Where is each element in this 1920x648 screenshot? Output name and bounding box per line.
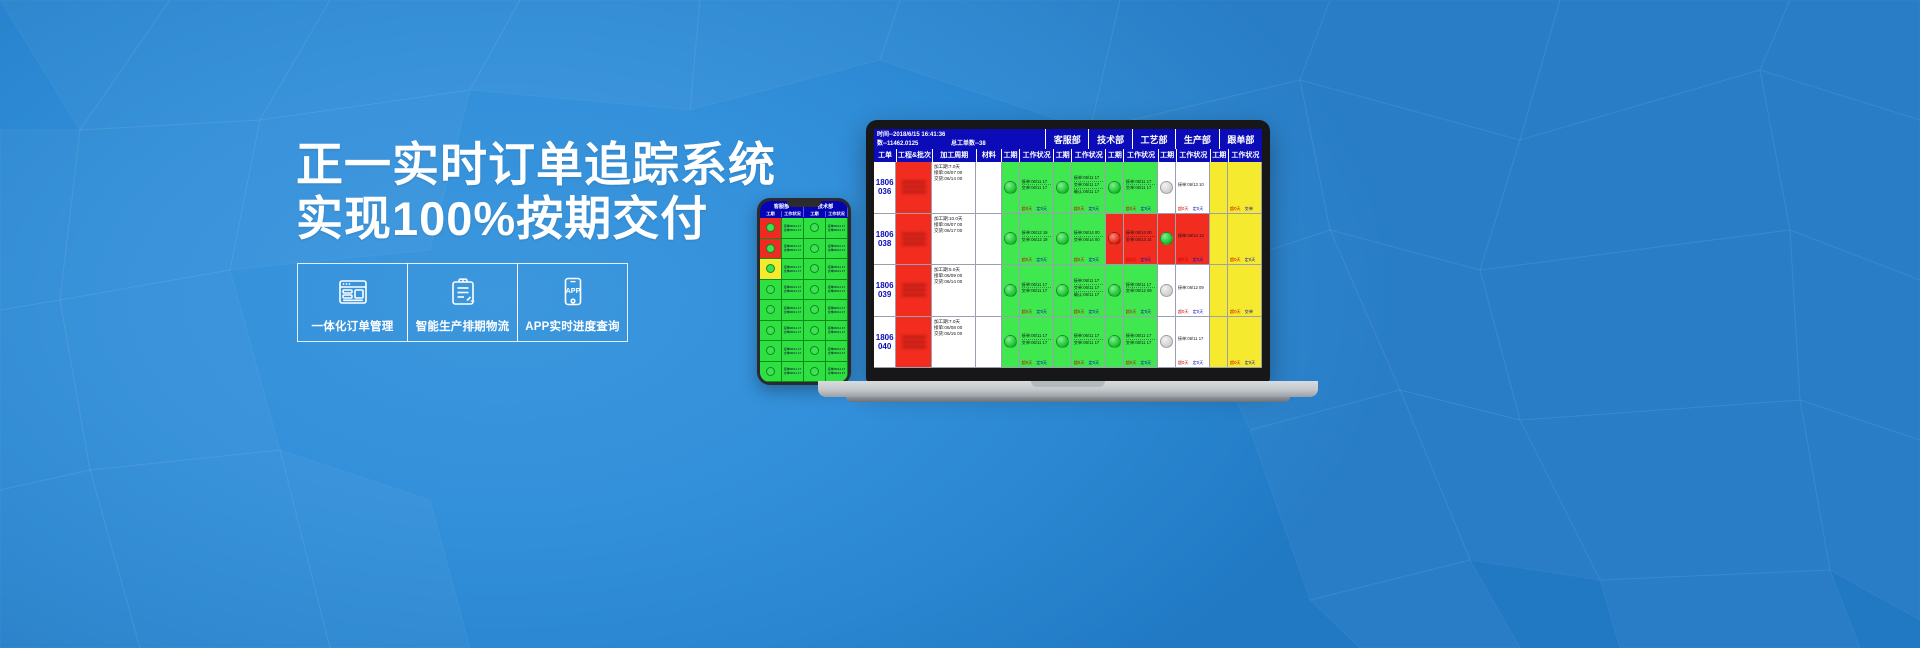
phone-status-text: 接单06/11 17交单06/11 17 <box>784 306 801 314</box>
dept-header: 生产部 <box>1175 129 1218 149</box>
status-dot-green <box>766 305 775 314</box>
status-dot-green <box>766 367 775 376</box>
app-icon-text: APP <box>565 286 580 295</box>
status-dot-green <box>766 264 775 273</box>
promo-banner: 正一实时订单追踪系统 实现100%按期交付 一体化订单管理 <box>0 0 1920 648</box>
duration-indicator-cell <box>1002 214 1020 265</box>
status-dot-green <box>766 223 775 232</box>
feature-label: 智能生产排期物流 <box>416 318 510 334</box>
status-dot-red <box>1108 232 1121 245</box>
column-header: 工期 <box>1210 149 1228 162</box>
phone-col-label: 工期 <box>760 211 782 217</box>
dept-header: 技术部 <box>1088 129 1131 149</box>
phone-cell <box>760 321 781 342</box>
duration-indicator-cell <box>1054 214 1072 265</box>
order-number-cell: 1806040 <box>874 317 896 368</box>
feature-item-production-scheduling[interactable]: 智能生产排期物流 <box>407 263 518 342</box>
duration-indicator-cell <box>1210 317 1228 368</box>
laptop-screen: 时间--2018/6/15 16:41:36 数--11462.0125 总工单… <box>874 129 1262 368</box>
work-status-cell: 接单:06/11 17交单:06/11 17超0天定0天 <box>1124 162 1158 213</box>
phone-cell <box>760 362 781 383</box>
work-status-cell: 接单:06/11 17交单:06/11 17超0天定0天 <box>1072 317 1106 368</box>
status-dot-grey <box>1160 335 1173 348</box>
phone-cell: 接单06/11 17交单06/11 17 <box>782 321 803 342</box>
laptop-mockup: 时间--2018/6/15 16:41:36 数--11462.0125 总工单… <box>818 120 1318 420</box>
column-header: 加工周期 <box>932 149 976 162</box>
status-dot-green <box>1056 335 1069 348</box>
phone-status-text: 接单06/11 17交单06/11 17 <box>784 244 801 252</box>
material-cell <box>976 317 1001 368</box>
column-header: 工程&批次 <box>896 149 932 162</box>
phone-cell: 接单06/11 17交单06/11 17 <box>782 259 803 280</box>
phone-cell <box>760 259 781 280</box>
status-dot-green <box>1056 232 1069 245</box>
phone-cell: 接单06/11 17交单06/11 17 <box>782 341 803 362</box>
work-status-cell: 接单:06/11 17交单:06/11 17超0天定0天 <box>1124 317 1158 368</box>
column-header: 工作状况 <box>1123 149 1157 162</box>
laptop-foot <box>846 397 1290 402</box>
status-dot-green <box>1160 232 1173 245</box>
phone-cell <box>760 218 781 239</box>
work-status-cell: 接单:06/13 10超0天定0天 <box>1176 162 1210 213</box>
feature-label: 一体化订单管理 <box>312 318 394 334</box>
dashboard-window-icon <box>338 277 368 307</box>
material-cell <box>976 214 1001 265</box>
dashboard-department-row: 客服部 技术部 工艺部 生产部 跟单部 <box>1045 129 1262 149</box>
duration-indicator-cell <box>1106 162 1124 213</box>
dept-header: 客服部 <box>1045 129 1088 149</box>
duration-indicator-cell <box>1002 317 1020 368</box>
duration-indicator-cell <box>1210 265 1228 316</box>
duration-indicator-cell <box>1106 214 1124 265</box>
work-status-cell: 接单:06/12 19交单:06/12 19超0天定0天 <box>1020 214 1054 265</box>
work-status-cell: 超0天定0天 <box>1228 214 1262 265</box>
column-header: 工作状况 <box>1019 149 1053 162</box>
status-dot-green <box>1108 335 1121 348</box>
column-header: 工单 <box>874 149 896 162</box>
phone-cell: 接单06/11 17交单06/11 17 <box>782 239 803 260</box>
dept-header: 工艺部 <box>1132 129 1175 149</box>
column-header: 工作状况 <box>1071 149 1105 162</box>
status-dot-green <box>1056 181 1069 194</box>
duration-indicator-cell <box>1210 214 1228 265</box>
feature-item-order-management[interactable]: 一体化订单管理 <box>297 263 408 342</box>
status-dot-green <box>1004 284 1017 297</box>
work-status-cell: 超0天定0天 <box>1228 317 1262 368</box>
column-header: 工作状况 <box>1176 149 1210 162</box>
phone-cell <box>760 341 781 362</box>
status-dot-green <box>1108 181 1121 194</box>
column-header: 工期 <box>1158 149 1176 162</box>
duration-indicator-cell <box>1210 162 1228 213</box>
table-row[interactable]: 1806036加工期:7.0天接单:06/07 00交货:06/14 00接单:… <box>874 162 1262 214</box>
duration-indicator-cell <box>1054 317 1072 368</box>
mobile-app-icon: APP <box>562 277 584 307</box>
work-status-cell: 接单:06/11 17交单:06/11 17超0天定0天 <box>1020 162 1054 213</box>
work-status-cell: 接单:06/11 17交单:06/11 17超0天定0天 <box>1020 317 1054 368</box>
clipboard-schedule-icon <box>450 277 476 307</box>
table-row[interactable]: 1806038加工期:10.0天接单:06/07 00交货:06/17 00接单… <box>874 214 1262 266</box>
project-batch-cell <box>896 214 932 265</box>
work-status-cell: 超0天交单 <box>1228 265 1262 316</box>
phone-notch <box>787 201 821 207</box>
status-dot-green <box>1004 232 1017 245</box>
duration-indicator-cell <box>1002 265 1020 316</box>
feature-list: 一体化订单管理 智能生产排期物流 <box>297 263 627 342</box>
feature-item-app-progress-query[interactable]: APP APP实时进度查询 <box>517 263 628 342</box>
dashboard-total-orders: 总工单数--38 <box>951 140 986 149</box>
phone-cell <box>760 280 781 301</box>
status-dot-green <box>766 244 775 253</box>
dashboard-column-header: 工单 工程&批次 加工周期 材料 工期 工作状况 工期 工作状况 工期 工作状况… <box>874 149 1262 162</box>
status-dot-green <box>1004 335 1017 348</box>
phone-cell: 接单06/11 17交单06/11 17 <box>782 280 803 301</box>
project-batch-cell <box>896 162 932 213</box>
status-dot-green <box>766 346 775 355</box>
dashboard-header: 时间--2018/6/15 16:41:36 数--11462.0125 总工单… <box>874 129 1262 149</box>
phone-column: 接单06/11 17交单06/11 17接单06/11 17交单06/11 17… <box>782 218 804 382</box>
work-status-cell: 接单:06/14 13超0天定0天 <box>1176 214 1210 265</box>
duration-indicator-cell <box>1054 265 1072 316</box>
status-dot-green <box>1056 284 1069 297</box>
status-dot-grey <box>1160 181 1173 194</box>
processing-cycle-cell: 加工期:7.0天接单:06/08 00交货:06/15 00 <box>932 317 976 368</box>
processing-cycle-cell: 加工期:10.0天接单:06/07 00交货:06/17 00 <box>932 214 976 265</box>
work-status-cell: 超0天交单 <box>1228 162 1262 213</box>
column-header: 工作状况 <box>1228 149 1262 162</box>
dashboard-rows: 1806036加工期:7.0天接单:06/07 00交货:06/14 00接单:… <box>874 162 1262 368</box>
column-header: 工期 <box>1053 149 1071 162</box>
phone-cell: 接单06/11 17交单06/11 17 <box>782 362 803 383</box>
order-number-cell: 1806038 <box>874 214 896 265</box>
processing-cycle-cell: 加工期:7.0天接单:06/07 00交货:06/14 00 <box>932 162 976 213</box>
project-batch-cell <box>896 265 932 316</box>
column-header: 工期 <box>1001 149 1019 162</box>
work-status-cell: 接单:06/11 17交单:06/11 17确认:06/11 17超0天定0天 <box>1072 162 1106 213</box>
phone-status-text: 接单06/11 17交单06/11 17 <box>784 265 801 273</box>
status-dot-grey <box>1160 284 1173 297</box>
column-header: 材料 <box>976 149 1001 162</box>
work-status-cell: 接单:06/11 17交单:06/12 09超0天定0天 <box>1124 265 1158 316</box>
duration-indicator-cell <box>1106 317 1124 368</box>
dept-header: 跟单部 <box>1219 129 1262 149</box>
material-cell <box>976 162 1001 213</box>
work-status-cell: 接单:06/11 17交单:06/11 17超0天定0天 <box>1020 265 1054 316</box>
duration-indicator-cell <box>1158 317 1176 368</box>
phone-status-text: 接单06/11 17交单06/11 17 <box>784 347 801 355</box>
work-status-cell: 接单:06/14 00交单:06/14 14超0天定0天 <box>1124 214 1158 265</box>
status-dot-green <box>766 326 775 335</box>
phone-status-text: 接单06/11 17交单06/11 17 <box>784 367 801 375</box>
duration-indicator-cell <box>1158 265 1176 316</box>
dashboard-time: 时间--2018/6/15 16:41:36 <box>877 131 1043 140</box>
duration-indicator-cell <box>1054 162 1072 213</box>
work-status-cell: 接单:06/11 17超0天定0天 <box>1176 317 1210 368</box>
feature-label: APP实时进度查询 <box>525 318 619 334</box>
order-number-cell: 1806039 <box>874 265 896 316</box>
laptop-lid: 时间--2018/6/15 16:41:36 数--11462.0125 总工单… <box>866 120 1270 382</box>
phone-status-text: 接单06/11 17交单06/11 17 <box>784 224 801 232</box>
status-dot-green <box>766 285 775 294</box>
work-status-cell: 接单:06/14 00交单:06/14 00超0天定0天 <box>1072 214 1106 265</box>
phone-cell <box>760 300 781 321</box>
phone-column <box>760 218 782 382</box>
phone-cell <box>760 239 781 260</box>
phone-status-text: 接单06/11 17交单06/11 17 <box>784 326 801 334</box>
phone-col-label: 工作状况 <box>782 211 804 217</box>
column-header: 工期 <box>1105 149 1123 162</box>
duration-indicator-cell <box>1106 265 1124 316</box>
dashboard-count: 数--11462.0125 <box>877 140 951 149</box>
phone-status-text: 接单06/11 17交单06/11 17 <box>784 285 801 293</box>
phone-cell: 接单06/11 17交单06/11 17 <box>782 218 803 239</box>
project-batch-cell <box>896 317 932 368</box>
laptop-base <box>818 381 1318 397</box>
status-dot-green <box>1004 181 1017 194</box>
dashboard-meta: 时间--2018/6/15 16:41:36 数--11462.0125 总工单… <box>874 129 1045 149</box>
work-status-cell: 接单:06/12 09超0天定0天 <box>1176 265 1210 316</box>
order-tracking-dashboard: 时间--2018/6/15 16:41:36 数--11462.0125 总工单… <box>874 129 1262 368</box>
table-row[interactable]: 1806040加工期:7.0天接单:06/08 00交货:06/15 00接单:… <box>874 317 1262 369</box>
order-number-cell: 1806036 <box>874 162 896 213</box>
table-row[interactable]: 1806039加工期:5.0天接单:06/09 00交货:06/14 00接单:… <box>874 265 1262 317</box>
duration-indicator-cell <box>1158 214 1176 265</box>
laptop-trackpad-notch <box>1031 381 1105 387</box>
duration-indicator-cell <box>1158 162 1176 213</box>
duration-indicator-cell <box>1002 162 1020 213</box>
status-dot-green <box>1108 284 1121 297</box>
work-status-cell: 接单:06/11 17交单:06/11 17确认:06/11 17超0天定0天 <box>1072 265 1106 316</box>
processing-cycle-cell: 加工期:5.0天接单:06/09 00交货:06/14 00 <box>932 265 976 316</box>
material-cell <box>976 265 1001 316</box>
phone-cell: 接单06/11 17交单06/11 17 <box>782 300 803 321</box>
